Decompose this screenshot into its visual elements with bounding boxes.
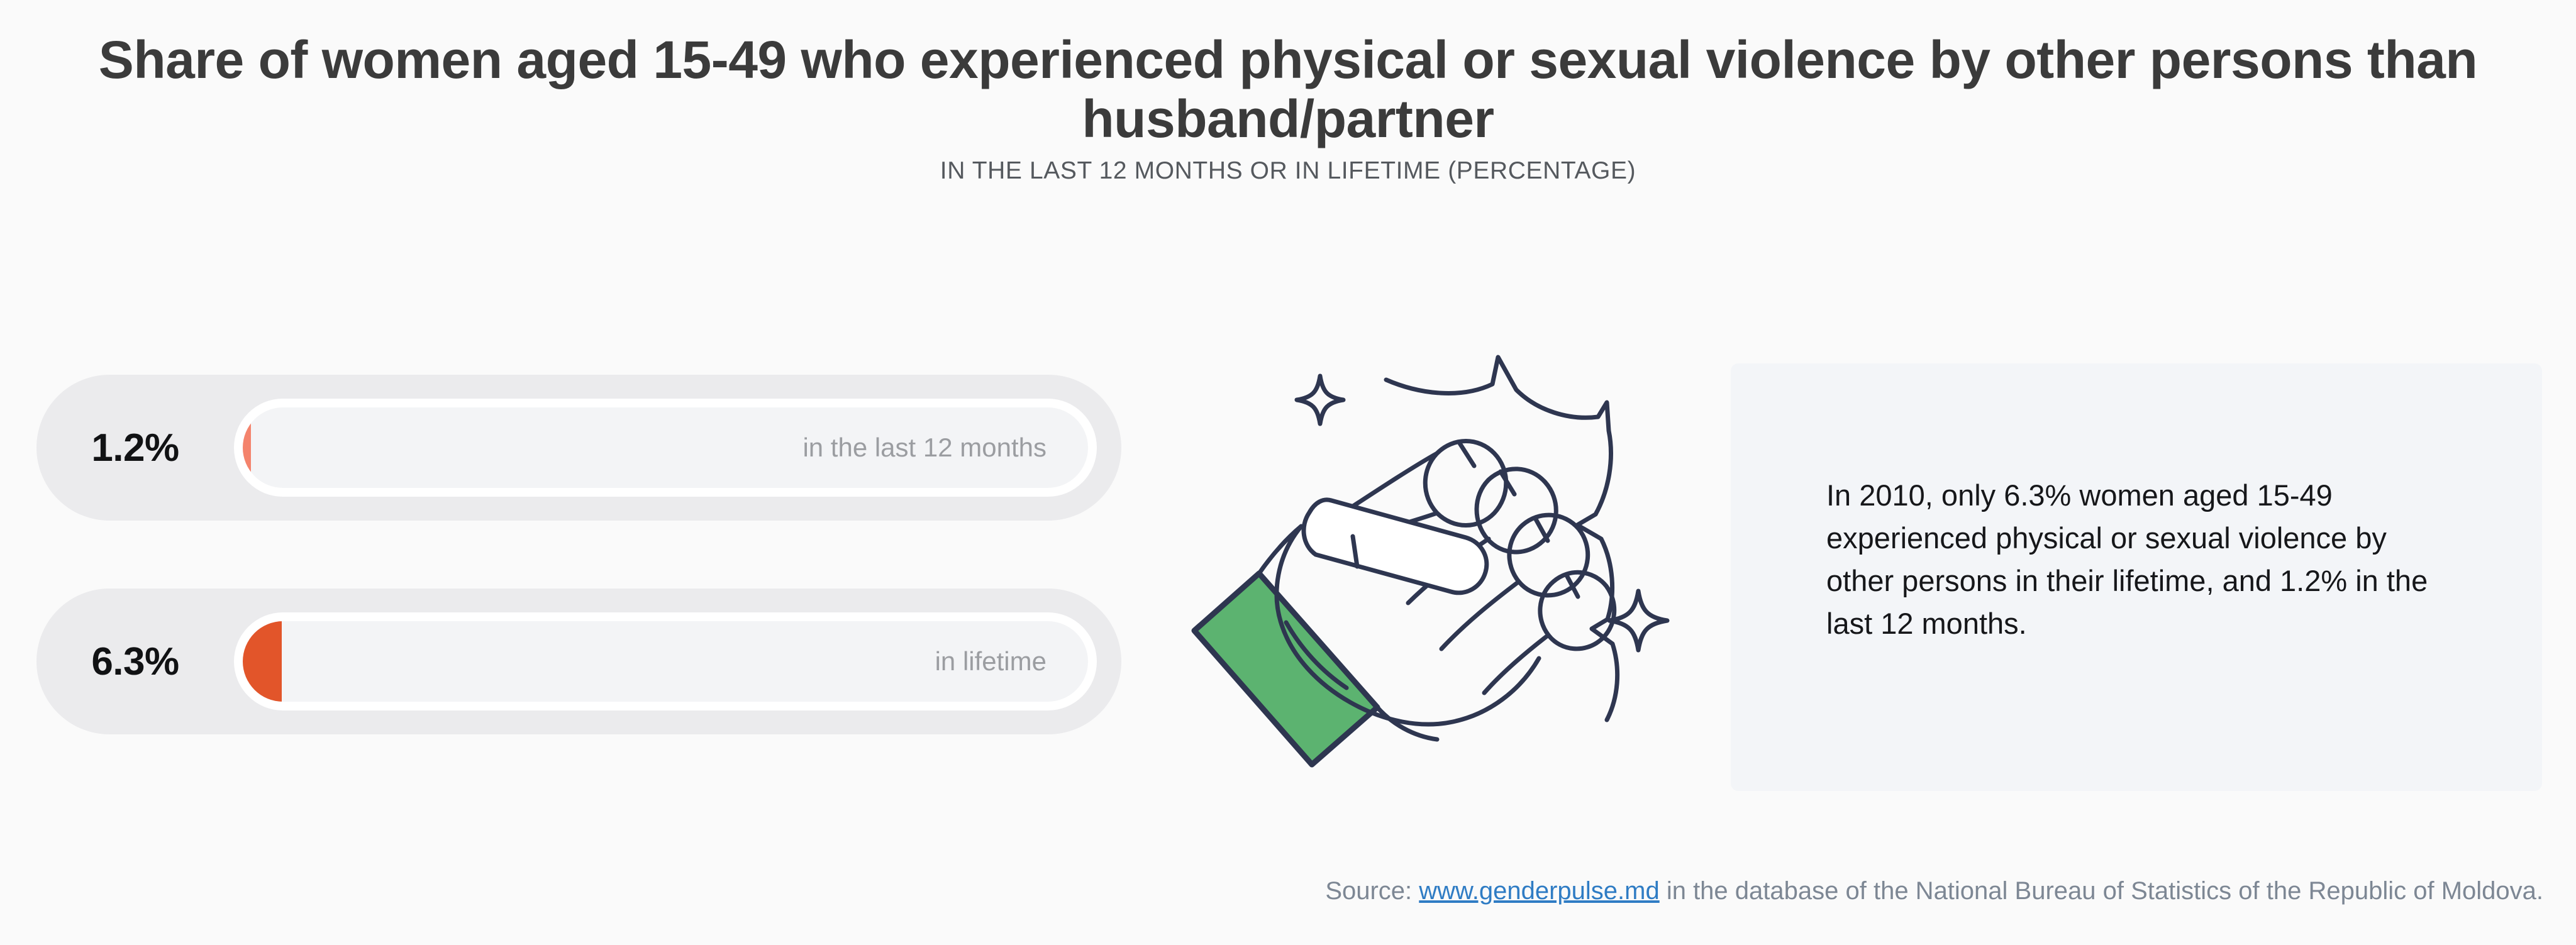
note-text: In 2010, only 6.3% women aged 15-49 expe… [1826,474,2462,646]
bar-fill-lifetime [243,621,282,702]
page-title: Share of women aged 15-49 who experience… [62,30,2514,148]
source-footer: Source: www.genderpulse.md in the databa… [0,877,2576,905]
bar-frame-last-12-months: in the last 12 months [234,399,1097,497]
note-panel: In 2010, only 6.3% women aged 15-49 expe… [1731,363,2542,791]
clenched-fist-illustration [1167,336,1733,795]
source-link[interactable]: www.genderpulse.md [1419,877,1659,905]
bar-frame-lifetime: in lifetime [234,612,1097,710]
bar-row-lifetime: 6.3% in lifetime [36,589,1121,734]
bar-value-last-12-months: 1.2% [36,375,234,521]
bar-label-last-12-months: in the last 12 months [802,433,1088,463]
bar-chart: 1.2% in the last 12 months 6.3% in lifet… [36,375,1124,734]
source-prefix: Source: [1325,877,1419,905]
bar-track-lifetime: in lifetime [243,621,1088,702]
bar-row-last-12-months: 1.2% in the last 12 months [36,375,1121,521]
bar-value-lifetime: 6.3% [36,589,234,734]
page-subtitle: IN THE LAST 12 MONTHS OR IN LIFETIME (PE… [0,157,2576,185]
source-suffix: in the database of the National Bureau o… [1660,877,2543,905]
header: Share of women aged 15-49 who experience… [0,30,2576,185]
bar-track-last-12-months: in the last 12 months [243,407,1088,488]
bar-label-lifetime: in lifetime [935,646,1088,677]
infographic-root: Share of women aged 15-49 who experience… [0,0,2576,945]
bar-fill-last-12-months [243,407,251,488]
